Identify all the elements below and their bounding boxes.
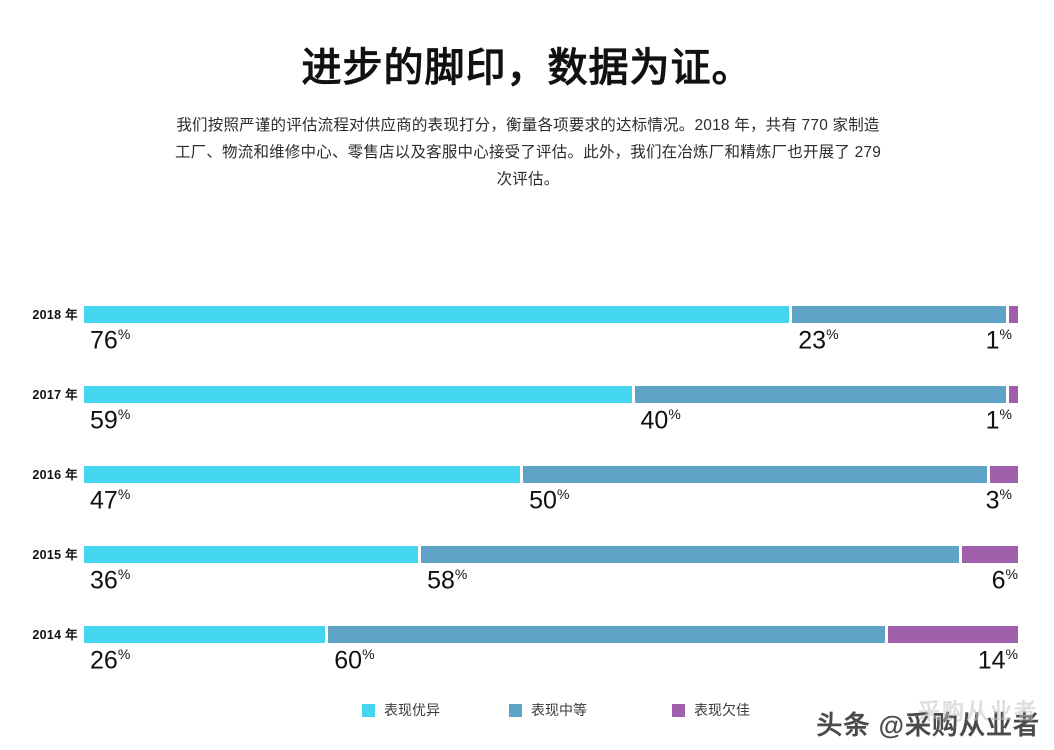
- percent-sign: %: [1000, 406, 1012, 422]
- percent-sign: %: [118, 486, 130, 502]
- value-layer: 36%58%6%: [84, 566, 1012, 596]
- value-label-medium: 40%: [641, 406, 681, 435]
- bar-row: 2018 年76%23%1%: [0, 296, 1054, 358]
- bar-segment-poor: [962, 546, 1018, 563]
- bar-row: 2017 年59%40%1%: [0, 376, 1054, 438]
- value-number: 1: [986, 326, 1000, 354]
- value-label-excellent: 76%: [90, 326, 130, 355]
- stacked-bar-chart: 2018 年76%23%1%2017 年59%40%1%2016 年47%50%…: [0, 296, 1054, 672]
- bar-segment-poor: [1009, 306, 1018, 323]
- value-label-poor: 3%: [986, 486, 1012, 515]
- value-label-poor: 6%: [992, 566, 1018, 595]
- value-number: 58: [427, 566, 455, 594]
- legend-label: 表现优异: [384, 700, 440, 720]
- value-layer: 59%40%1%: [84, 406, 1012, 436]
- legend-label: 表现欠佳: [694, 700, 750, 720]
- value-label-poor: 14%: [978, 646, 1018, 675]
- value-label-poor: 1%: [986, 406, 1012, 435]
- watermark: 采购从业者 头条 @采购从业者: [816, 705, 1040, 742]
- value-label-excellent: 26%: [90, 646, 130, 675]
- intro-paragraph: 我们按照严谨的评估流程对供应商的表现打分，衡量各项要求的达标情况。2018 年，…: [172, 112, 884, 193]
- percent-sign: %: [118, 326, 130, 342]
- year-label: 2014 年: [0, 624, 78, 643]
- bar-track: [84, 466, 1012, 483]
- value-number: 6: [992, 566, 1006, 594]
- legend-item-excellent[interactable]: 表现优异: [362, 700, 440, 720]
- percent-sign: %: [118, 406, 130, 422]
- value-number: 50: [529, 486, 557, 514]
- value-label-excellent: 36%: [90, 566, 130, 595]
- bar-segment-excellent: [84, 466, 520, 483]
- percent-sign: %: [1000, 326, 1012, 342]
- value-number: 1: [986, 406, 1000, 434]
- value-label-excellent: 59%: [90, 406, 130, 435]
- percent-sign: %: [668, 406, 680, 422]
- legend-swatch-icon: [672, 704, 685, 717]
- bar-segment-poor: [1009, 386, 1018, 403]
- value-number: 47: [90, 486, 118, 514]
- value-layer: 76%23%1%: [84, 326, 1012, 356]
- percent-sign: %: [557, 486, 569, 502]
- bar-segment-excellent: [84, 306, 789, 323]
- percent-sign: %: [826, 326, 838, 342]
- percent-sign: %: [118, 566, 130, 582]
- legend-swatch-icon: [509, 704, 522, 717]
- bar-segment-medium: [635, 386, 1006, 403]
- percent-sign: %: [1006, 646, 1018, 662]
- bar-segment-excellent: [84, 386, 632, 403]
- value-number: 76: [90, 326, 118, 354]
- value-label-medium: 58%: [427, 566, 467, 595]
- bar-track: [84, 626, 1012, 643]
- value-number: 14: [978, 646, 1006, 674]
- bar-track: [84, 386, 1012, 403]
- watermark-ghost: 采购从业者: [918, 694, 1038, 726]
- year-label: 2017 年: [0, 384, 78, 403]
- bar-segment-medium: [792, 306, 1005, 323]
- bar-segment-medium: [328, 626, 885, 643]
- percent-sign: %: [1000, 486, 1012, 502]
- bar-track: [84, 546, 1012, 563]
- value-label-medium: 23%: [798, 326, 838, 355]
- value-layer: 47%50%3%: [84, 486, 1012, 516]
- bar-segment-excellent: [84, 546, 418, 563]
- legend-swatch-icon: [362, 704, 375, 717]
- legend-item-poor[interactable]: 表现欠佳: [672, 700, 750, 720]
- bar-row: 2014 年26%60%14%: [0, 616, 1054, 678]
- value-number: 40: [641, 406, 669, 434]
- year-label: 2016 年: [0, 464, 78, 483]
- value-number: 36: [90, 566, 118, 594]
- bar-segment-medium: [523, 466, 987, 483]
- value-number: 23: [798, 326, 826, 354]
- value-label-medium: 60%: [334, 646, 374, 675]
- bar-segment-excellent: [84, 626, 325, 643]
- year-label: 2018 年: [0, 304, 78, 323]
- percent-sign: %: [362, 646, 374, 662]
- year-label: 2015 年: [0, 544, 78, 563]
- value-label-medium: 50%: [529, 486, 569, 515]
- value-layer: 26%60%14%: [84, 646, 1012, 676]
- bar-track: [84, 306, 1012, 323]
- page-title: 进步的脚印，数据为证。: [0, 43, 1054, 93]
- bar-row: 2015 年36%58%6%: [0, 536, 1054, 598]
- percent-sign: %: [118, 646, 130, 662]
- value-number: 59: [90, 406, 118, 434]
- value-label-excellent: 47%: [90, 486, 130, 515]
- value-number: 26: [90, 646, 118, 674]
- bar-row: 2016 年47%50%3%: [0, 456, 1054, 518]
- legend-item-medium[interactable]: 表现中等: [509, 700, 587, 720]
- value-number: 60: [334, 646, 362, 674]
- bar-segment-poor: [990, 466, 1018, 483]
- value-number: 3: [986, 486, 1000, 514]
- value-label-poor: 1%: [986, 326, 1012, 355]
- bar-segment-poor: [888, 626, 1018, 643]
- legend-label: 表现中等: [531, 700, 587, 720]
- percent-sign: %: [455, 566, 467, 582]
- percent-sign: %: [1006, 566, 1018, 582]
- bar-segment-medium: [421, 546, 959, 563]
